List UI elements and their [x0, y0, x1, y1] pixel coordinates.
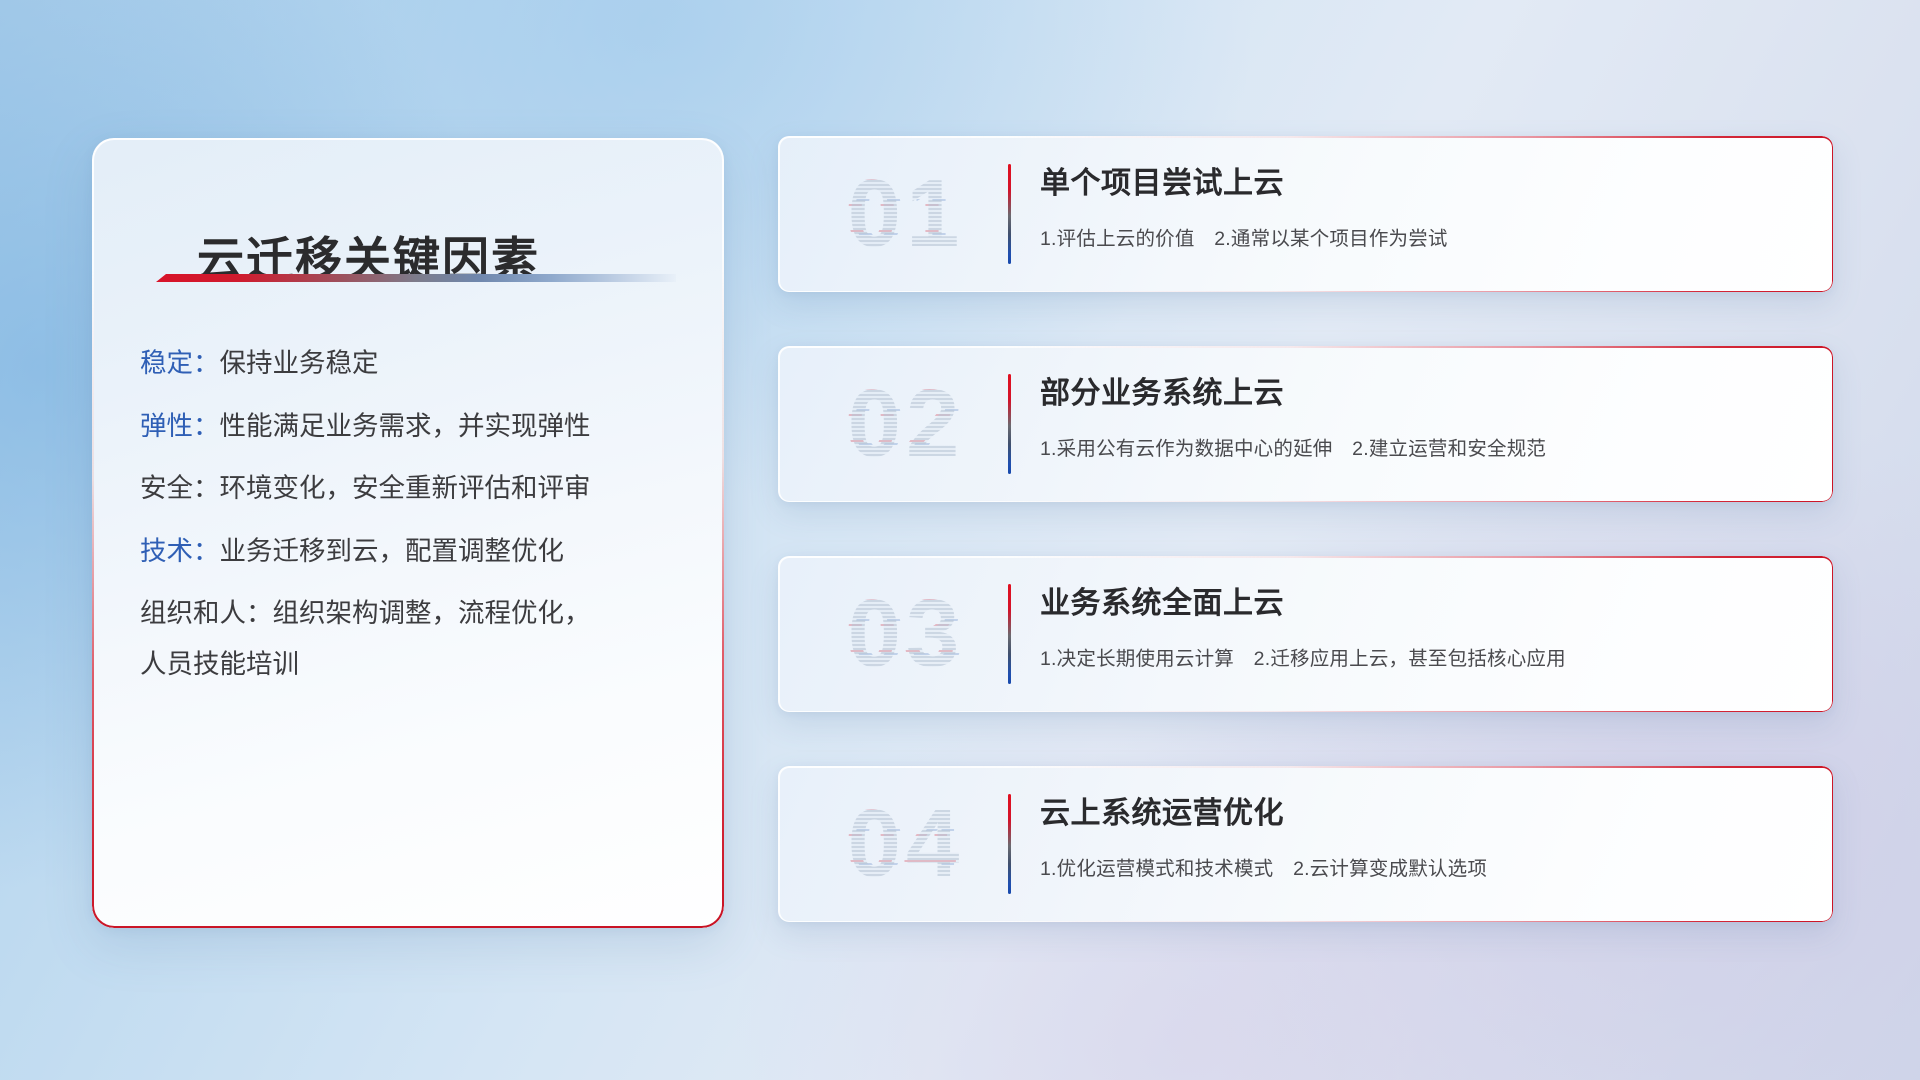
- list-item: 弹性：性能满足业务需求，并实现弹性: [140, 413, 700, 440]
- step-number-graphic: 02 02 02: [778, 346, 1034, 502]
- list-item: 组织和人：组织架构调整，流程优化，: [140, 600, 700, 627]
- factor-key: 组织和人：: [140, 598, 273, 628]
- step-title: 单个项目尝试上云: [1040, 158, 1448, 202]
- step-card-02[interactable]: 02 02 02 部分业务系统上云 1.采用公有云作为数据中心的延伸 2.建立运…: [778, 346, 1833, 502]
- migration-steps-list: 01 01 01 单个项目尝试上云 1.评估上云的价值 2.通常以某个项目作为尝…: [778, 136, 1833, 976]
- factor-value: 组织架构调整，流程优化，: [273, 598, 591, 628]
- step-title: 部分业务系统上云: [1040, 368, 1546, 412]
- step-divider-bar: [1008, 794, 1011, 894]
- factor-value: 保持业务稳定: [220, 348, 379, 378]
- step-divider-bar: [1008, 374, 1011, 474]
- step-title: 云上系统运营优化: [1040, 788, 1487, 832]
- factor-list: 稳定：保持业务稳定 弹性：性能满足业务需求，并实现弹性 安全：环境变化，安全重新…: [140, 350, 700, 713]
- list-item: 安全：环境变化，安全重新评估和评审: [140, 475, 700, 502]
- factor-value: 性能满足业务需求，并实现弹性: [220, 411, 591, 441]
- slide-canvas: 云迁移关键因素 稳定：保持业务稳定 弹性：性能满足业务需求，并实现弹性 安全：环…: [0, 0, 1920, 1080]
- step-divider-bar: [1008, 584, 1011, 684]
- factor-value: 业务迁移到云，配置调整优化: [220, 536, 565, 566]
- step-description: 1.决定长期使用云计算 2.迁移应用上云，甚至包括核心应用: [1040, 642, 1566, 671]
- step-card-03[interactable]: 03 03 03 业务系统全面上云 1.决定长期使用云计算 2.迁移应用上云，甚…: [778, 556, 1833, 712]
- step-text-block: 云上系统运营优化 1.优化运营模式和技术模式 2.云计算变成默认选项: [1040, 788, 1487, 900]
- step-description: 1.优化运营模式和技术模式 2.云计算变成默认选项: [1040, 852, 1487, 881]
- step-number-graphic: 01 01 01: [778, 136, 1034, 292]
- factor-value: 人员技能培训: [140, 649, 299, 679]
- step-card-01[interactable]: 01 01 01 单个项目尝试上云 1.评估上云的价值 2.通常以某个项目作为尝…: [778, 136, 1833, 292]
- step-number-graphic: 04 04 04: [778, 766, 1034, 922]
- step-divider-bar: [1008, 164, 1011, 264]
- key-factors-panel: 云迁移关键因素 稳定：保持业务稳定 弹性：性能满足业务需求，并实现弹性 安全：环…: [92, 138, 724, 928]
- factor-key: 安全：: [140, 473, 220, 503]
- step-number: 03: [806, 572, 1006, 696]
- list-item: 技术：业务迁移到云，配置调整优化: [140, 538, 700, 565]
- list-item-continuation: 人员技能培训: [140, 651, 700, 678]
- step-number: 01: [806, 152, 1006, 276]
- factor-key: 技术：: [140, 536, 220, 566]
- step-text-block: 单个项目尝试上云 1.评估上云的价值 2.通常以某个项目作为尝试: [1040, 158, 1448, 270]
- step-number: 02: [806, 362, 1006, 486]
- list-item: 稳定：保持业务稳定: [140, 350, 700, 377]
- factor-value: 环境变化，安全重新评估和评审: [220, 473, 591, 503]
- factor-key: 稳定：: [140, 348, 220, 378]
- step-text-block: 业务系统全面上云 1.决定长期使用云计算 2.迁移应用上云，甚至包括核心应用: [1040, 578, 1566, 690]
- step-description: 1.评估上云的价值 2.通常以某个项目作为尝试: [1040, 222, 1448, 251]
- step-card-04[interactable]: 04 04 04 云上系统运营优化 1.优化运营模式和技术模式 2.云计算变成默…: [778, 766, 1833, 922]
- step-description: 1.采用公有云作为数据中心的延伸 2.建立运营和安全规范: [1040, 432, 1546, 461]
- step-title: 业务系统全面上云: [1040, 578, 1566, 622]
- step-number: 04: [806, 782, 1006, 906]
- step-number-graphic: 03 03 03: [778, 556, 1034, 712]
- factor-key: 弹性：: [140, 411, 220, 441]
- title-underline-rule: [156, 274, 676, 282]
- step-text-block: 部分业务系统上云 1.采用公有云作为数据中心的延伸 2.建立运营和安全规范: [1040, 368, 1546, 480]
